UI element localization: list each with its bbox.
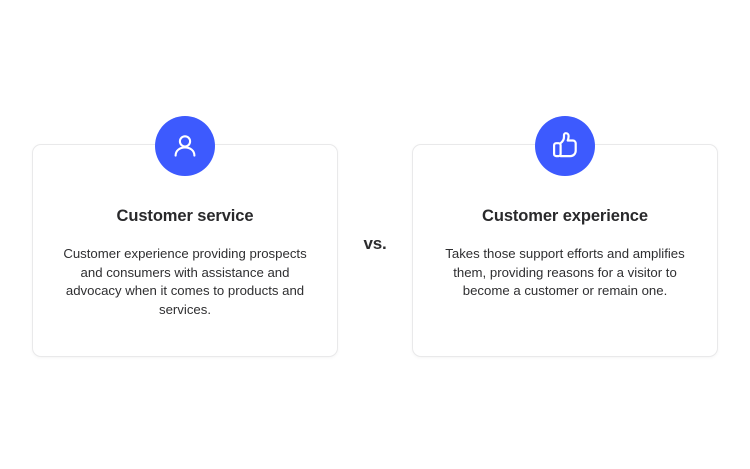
comparison-graphic: Customer service Customer experience pro… bbox=[0, 0, 750, 469]
card-description: Takes those support efforts and amplifie… bbox=[442, 245, 688, 301]
thumbs-up-icon-badge bbox=[535, 116, 595, 176]
versus-separator: vs. bbox=[338, 234, 412, 254]
person-icon bbox=[169, 130, 201, 162]
card-content: Customer experience Takes those support … bbox=[413, 207, 717, 301]
card-title: Customer service bbox=[45, 207, 325, 227]
card-title: Customer experience bbox=[425, 207, 705, 227]
card-description: Customer experience providing prospects … bbox=[51, 245, 319, 320]
person-icon-badge bbox=[155, 116, 215, 176]
thumbs-up-icon bbox=[548, 129, 582, 163]
card-content: Customer service Customer experience pro… bbox=[33, 207, 337, 320]
